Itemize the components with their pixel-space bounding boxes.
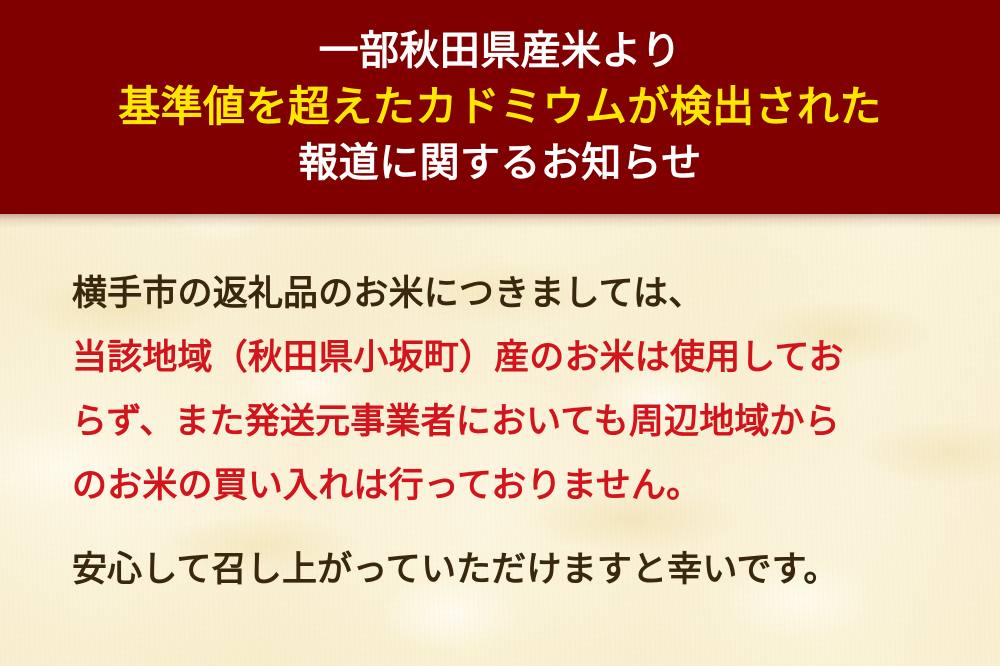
body-paragraph-1-line-1: 横手市の返礼品のお米につきましては、 <box>72 262 940 326</box>
body-paragraph-2: 安心して召し上がっていただけますと幸いです。 <box>72 538 940 602</box>
header-line-3: 報道に関するお知らせ <box>0 135 1000 191</box>
header-line-1: 一部秋田県産米より <box>0 23 1000 79</box>
body-paragraph-1-line-4: のお米の買い入れは行っておりません。 <box>72 454 940 518</box>
notice-banner: 一部秋田県産米より 基準値を超えたカドミウムが検出された 報道に関するお知らせ … <box>0 0 1000 666</box>
body-paragraph-2-line-1: 安心して召し上がっていただけますと幸いです。 <box>72 538 940 602</box>
body-paragraph-1: 横手市の返礼品のお米につきましては、 当該地域（秋田県小坂町）産のお米は使用して… <box>72 262 940 518</box>
body-paragraph-1-line-3: らず、また発送元事業者においても周辺地域から <box>72 390 940 454</box>
header-line-2-highlight: 基準値を超えたカドミウムが検出された <box>0 79 1000 135</box>
body-copy: 横手市の返礼品のお米につきましては、 当該地域（秋田県小坂町）産のお米は使用して… <box>0 214 1000 666</box>
header-band: 一部秋田県産米より 基準値を超えたカドミウムが検出された 報道に関するお知らせ <box>0 0 1000 214</box>
body-paragraph-1-line-2: 当該地域（秋田県小坂町）産のお米は使用してお <box>72 326 940 390</box>
